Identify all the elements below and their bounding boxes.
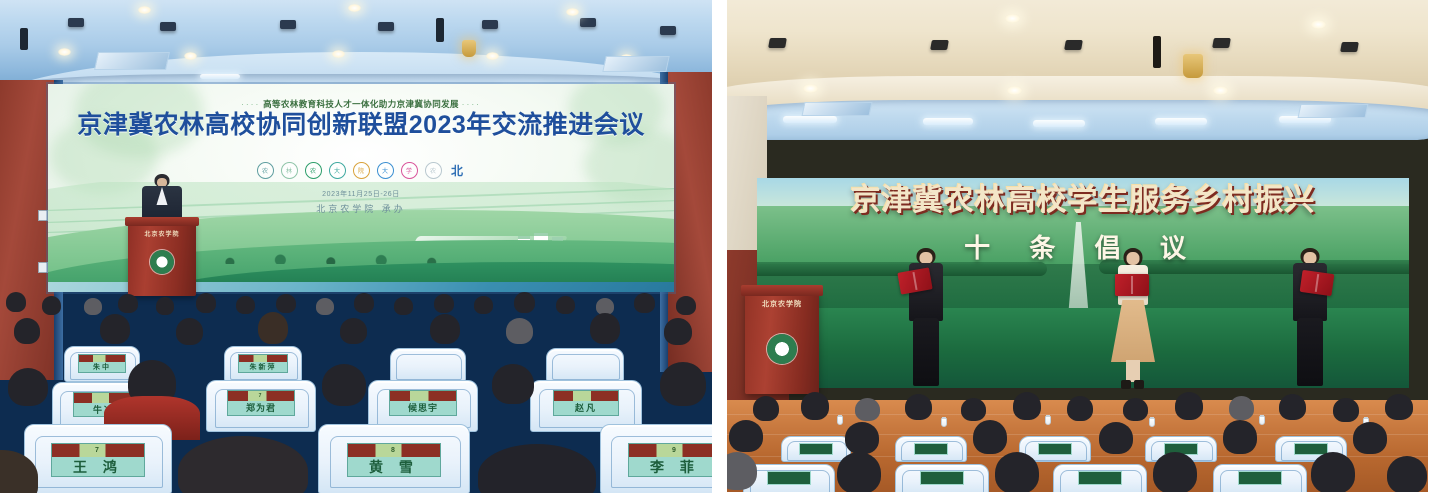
- lectern: 北京农学院: [745, 290, 819, 394]
- seat-back: [1213, 464, 1307, 492]
- spotlight-fixture: [160, 22, 176, 31]
- slide-subtitle-text: 高等农林教育科技人才一体化助力京津冀协同发展: [263, 99, 459, 109]
- university-logo-1: 农: [257, 162, 274, 179]
- audience-head: [855, 398, 880, 421]
- ceiling-light-panel: [200, 74, 240, 79]
- university-logo-5: 院: [353, 162, 370, 179]
- card-number-strip: [390, 391, 456, 401]
- led-headline: 京津冀农林高校学生服务乡村振兴: [757, 184, 1409, 218]
- logo-glyph: 北: [451, 162, 463, 179]
- seat-name-text: 赵凡: [575, 401, 597, 414]
- pendant-lamp: [1183, 54, 1203, 78]
- downlight: [486, 52, 499, 60]
- air-vent: [1298, 104, 1369, 118]
- spotlight-fixture: [378, 22, 394, 31]
- audience-head: [801, 392, 829, 420]
- performer-trousers: [913, 318, 939, 386]
- downlight: [1311, 20, 1326, 29]
- downlight: [1007, 86, 1022, 95]
- seat-name-card: 候思宇: [389, 390, 457, 416]
- red-folder: [1115, 274, 1149, 296]
- logo-glyph: 院: [358, 166, 364, 175]
- performer-dress: [1111, 300, 1155, 362]
- lectern-top: [125, 217, 200, 226]
- audience-head: [837, 452, 881, 492]
- audience-head: [664, 318, 692, 345]
- audience-head: [1333, 398, 1359, 422]
- audience-head: [1013, 392, 1041, 420]
- audience-head: [322, 364, 366, 406]
- decor-dots-left: ····: [241, 99, 260, 109]
- spotlight-fixture: [280, 20, 296, 29]
- card-number-strip: [554, 391, 618, 401]
- seat-name-text: 王 鸿: [73, 457, 123, 477]
- lectern-label: 北京农学院: [128, 229, 196, 238]
- audience-head: [1175, 392, 1203, 420]
- logo-glyph: 农: [310, 166, 316, 175]
- seat-name-text: 郑为君: [246, 401, 276, 414]
- audience-head: [1311, 452, 1355, 492]
- ceiling-light-panel: [923, 118, 973, 125]
- logo-glyph: 农: [430, 166, 436, 175]
- seat-number-text: 8: [391, 447, 397, 454]
- downlight: [348, 4, 361, 12]
- performer-center: [1109, 248, 1157, 392]
- card-number-strip: 9: [629, 444, 712, 457]
- figure-root: ···· 高等农林教育科技人才一体化助力京津冀协同发展 ···· 京津冀农林高校…: [0, 0, 1440, 500]
- seat-name-text: 候思宇: [408, 401, 438, 414]
- lectern-top: [741, 285, 822, 296]
- logo-glyph: 大: [382, 166, 388, 175]
- university-logo-8: 农: [425, 162, 442, 179]
- seat-name-card: [1078, 471, 1122, 485]
- audience-head: [178, 436, 308, 493]
- audience-head: [8, 368, 48, 406]
- seat-back: [895, 464, 989, 492]
- downlight: [1213, 86, 1228, 95]
- audience-head: [660, 362, 706, 406]
- seat-name-card: [1238, 471, 1282, 485]
- air-vent: [802, 102, 873, 116]
- seat-name-card: [767, 471, 811, 485]
- audience-head: [845, 422, 879, 454]
- audience-head: [430, 314, 460, 344]
- seat-back: 9 李 菲: [600, 424, 712, 493]
- spotlight-fixture: [930, 40, 949, 50]
- audience-head: [176, 318, 203, 345]
- audience-head: [1153, 452, 1197, 492]
- left-conference-photo: ···· 高等农林教育科技人才一体化助力京津冀协同发展 ···· 京津冀农林高校…: [0, 0, 712, 493]
- audience-head: [1223, 420, 1257, 454]
- seat-name-card: 赵凡: [553, 390, 619, 416]
- ceiling-light-panel: [1155, 118, 1207, 125]
- red-folder: [1300, 270, 1335, 296]
- spotlight-fixture: [660, 26, 676, 35]
- downlight: [184, 52, 197, 60]
- performer-left: [903, 248, 949, 390]
- ceiling-light-cove: [727, 100, 1428, 140]
- audience-head: [1123, 398, 1148, 421]
- seat-name-card: 9 李 菲: [628, 443, 712, 477]
- seat-back: 7 王 鸿: [24, 424, 172, 493]
- spotlight-fixture: [68, 18, 84, 27]
- seat-number-text: 7: [259, 393, 264, 399]
- seat-name-card: 8 黄 雪: [347, 443, 441, 477]
- audience-head: [1279, 394, 1306, 420]
- logo-glyph: 大: [334, 166, 340, 175]
- audience-head: [1385, 394, 1413, 420]
- audience-head: [729, 420, 763, 452]
- downlight: [803, 84, 818, 93]
- seat-number-text: 7: [95, 447, 101, 454]
- downlight: [138, 6, 151, 14]
- card-number-strip: 7: [52, 444, 144, 457]
- university-emblem: [150, 250, 174, 274]
- card-number-strip: 8: [348, 444, 440, 457]
- university-logo-6: 大: [377, 162, 394, 179]
- downlight: [332, 50, 345, 58]
- audience-head: [258, 312, 288, 344]
- audience-head: [506, 318, 533, 344]
- seat-number-text: 9: [672, 447, 678, 454]
- lighting-truss: [436, 18, 444, 42]
- audience-head: [973, 420, 1007, 454]
- lighting-truss: [20, 28, 28, 50]
- air-vent: [602, 56, 669, 72]
- spotlight-fixture: [1064, 40, 1083, 50]
- lectern-label: 北京农学院: [745, 299, 819, 309]
- seat-back: 8 黄 雪: [318, 424, 470, 493]
- seat-name-card: [920, 471, 964, 485]
- air-vent: [94, 52, 170, 70]
- performer-trousers: [1297, 318, 1323, 386]
- spotlight-fixture: [1340, 42, 1359, 52]
- right-performance-photo: 京津冀农林高校学生服务乡村振兴 十 条 倡 议 北京农学院: [727, 0, 1428, 492]
- performer-face: [1127, 252, 1140, 265]
- university-logo-3: 农: [305, 162, 322, 179]
- audience-head: [492, 364, 534, 404]
- university-logo-4: 大: [329, 162, 346, 179]
- audience-head: [14, 318, 40, 344]
- seat-back: [1053, 464, 1147, 492]
- downlight: [1005, 14, 1020, 23]
- audience-head: [1099, 422, 1133, 454]
- audience-head: [1387, 456, 1427, 492]
- university-emblem: [767, 334, 797, 364]
- university-logo-9: 北: [449, 162, 466, 179]
- logo-glyph: 农: [262, 166, 268, 175]
- downlight: [58, 48, 71, 56]
- lighting-truss: [1153, 36, 1161, 68]
- audience-head: [905, 394, 932, 420]
- audience-head: [1229, 396, 1254, 420]
- spotlight-fixture: [580, 18, 596, 27]
- seat-name-text: 李 菲: [650, 457, 700, 477]
- performer-right: [1287, 248, 1333, 390]
- logo-glyph: 林: [286, 166, 292, 175]
- seat-name-text: 黄 雪: [369, 457, 419, 477]
- seat-name-card: 7 王 鸿: [51, 443, 145, 477]
- audience-head: [100, 314, 130, 344]
- card-number-strip: 7: [228, 391, 294, 401]
- audience-row-1: 7 王 鸿 8 黄 雪 9 李 菲: [0, 424, 712, 493]
- audience-head: [1067, 396, 1093, 421]
- university-logo-7: 学: [401, 162, 418, 179]
- audience-head: [995, 452, 1039, 492]
- decor-dots-right: ····: [462, 99, 481, 109]
- university-logo-2: 林: [281, 162, 298, 179]
- audience-row-1: [727, 452, 1428, 492]
- audience-head: [478, 444, 596, 493]
- audience-head: [340, 318, 367, 344]
- downlight: [566, 8, 579, 16]
- slide-title: 京津冀农林高校协同创新联盟2023年交流推进会议: [48, 110, 674, 140]
- logo-glyph: 学: [406, 166, 412, 175]
- pendant-lamp: [462, 40, 476, 57]
- spotlight-fixture: [482, 20, 498, 29]
- audience-head: [961, 398, 986, 421]
- audience-head: [753, 396, 779, 421]
- ceiling-light-panel: [783, 116, 837, 123]
- performer-legs: [1126, 360, 1140, 382]
- spotlight-fixture: [1212, 38, 1231, 48]
- spotlight-fixture: [768, 38, 787, 48]
- audience-head: [1353, 422, 1387, 454]
- slide-subtitle: ···· 高等农林教育科技人才一体化助力京津冀协同发展 ····: [48, 98, 674, 110]
- wall-speaker: [38, 210, 48, 221]
- audience-head: [590, 313, 620, 344]
- audience-head: [727, 452, 757, 490]
- ceiling-light-panel: [1033, 120, 1085, 127]
- seat-name-card: 7 郑为君: [227, 390, 295, 416]
